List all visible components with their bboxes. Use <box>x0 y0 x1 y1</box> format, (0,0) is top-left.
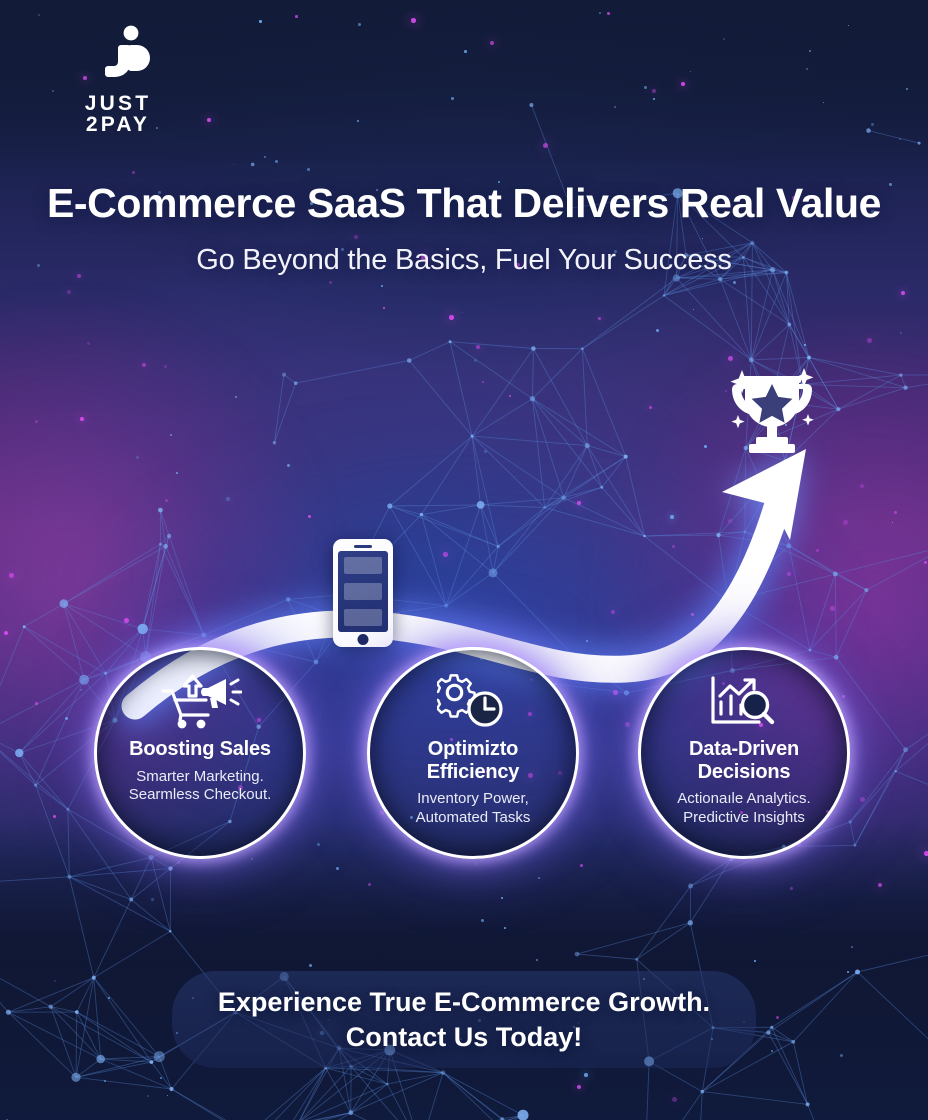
feature-subtitle-line1: Actionaıle Analytics. <box>677 790 810 807</box>
feature-title: Boosting Sales <box>129 738 271 761</box>
feature-subtitle: Inventory Power, Automated Tasks <box>416 790 531 828</box>
trophy-award-icon <box>716 352 828 457</box>
cta-line1: Experience True E-Commerce Growth. <box>218 987 710 1017</box>
bar-chart-magnifier-icon <box>707 674 781 730</box>
feature-card-boosting-sales[interactable]: Boosting Sales Smarter Marketing. Searml… <box>94 647 306 859</box>
feature-subtitle-line2: Predictive Insights <box>683 809 805 826</box>
feature-subtitle-line2: Automated Tasks <box>416 809 531 826</box>
cta-line2: Contact Us Today! <box>346 1022 583 1052</box>
shopping-cart-megaphone-icon <box>158 674 242 730</box>
phone-screen-row <box>344 583 382 600</box>
feature-title-line2: Decisions <box>698 761 791 783</box>
feature-title-line1: Data-Driven <box>689 738 799 760</box>
feature-subtitle: Actionaıle Analytics. Predictive Insight… <box>677 790 810 828</box>
phone-screen-row <box>344 609 382 626</box>
promo-poster: JUST 2PAY E-Commerce SaaS That Delivers … <box>0 0 928 1120</box>
feature-card-data-driven-decisions[interactable]: Data-Driven Decisions Actionaıle Analyti… <box>638 647 850 859</box>
phone-home-button <box>358 634 369 645</box>
phone-speaker <box>354 545 372 548</box>
gear-clock-icon <box>437 674 509 730</box>
cta-banner[interactable]: Experience True E-Commerce Growth. Conta… <box>172 971 756 1068</box>
feature-subtitle-line1: Smarter Marketing. <box>136 768 264 785</box>
phone-screen <box>338 551 388 632</box>
feature-title: Data-Driven Decisions <box>689 738 799 783</box>
phone-screen-row <box>344 557 382 574</box>
feature-title: Optimizto Efficiency <box>427 738 519 783</box>
smartphone-mockup-icon <box>333 539 393 647</box>
feature-card-optimize-efficiency[interactable]: Optimizto Efficiency Inventory Power, Au… <box>367 647 579 859</box>
upward-growth-arrow-icon <box>0 0 928 1120</box>
feature-title-line1: Optimizto <box>428 738 518 760</box>
feature-title-line2: Efficiency <box>427 761 519 783</box>
feature-subtitle-line1: Inventory Power, <box>417 790 529 807</box>
feature-subtitle: Smarter Marketing. Searmless Checkout. <box>129 768 272 806</box>
cta-text: Experience True E-Commerce Growth. Conta… <box>218 985 710 1053</box>
feature-subtitle-line2: Searmless Checkout. <box>129 786 272 803</box>
